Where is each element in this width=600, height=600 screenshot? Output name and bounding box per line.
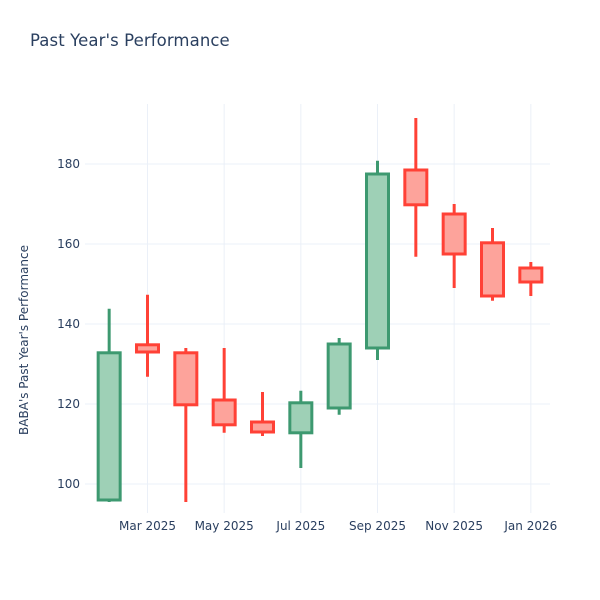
candle-body: [405, 170, 427, 205]
candle-body: [175, 353, 197, 405]
y-tick-label: 160: [57, 237, 80, 251]
x-tick-label: Sep 2025: [349, 519, 406, 533]
candle-body: [328, 344, 350, 408]
candle-body: [98, 353, 120, 500]
candlestick[interactable]: [252, 392, 274, 436]
candlestick[interactable]: [328, 338, 350, 415]
candle-body: [252, 422, 274, 432]
candle-series: [98, 118, 542, 502]
candlestick[interactable]: [405, 118, 427, 257]
candle-body: [520, 268, 542, 282]
candlestick[interactable]: [520, 262, 542, 296]
chart-page: Past Year's Performance 100120140160180 …: [0, 0, 600, 600]
grid-lines: [90, 104, 550, 508]
y-tick-label: 180: [57, 157, 80, 171]
candlestick[interactable]: [213, 348, 235, 433]
candlestick[interactable]: [482, 228, 504, 301]
candle-body: [367, 174, 389, 348]
candlestick[interactable]: [137, 295, 159, 377]
x-tick-label: May 2025: [195, 519, 254, 533]
candle-body: [482, 243, 504, 296]
y-tick-label: 120: [57, 397, 80, 411]
x-tick-label: Jan 2026: [503, 519, 557, 533]
candle-body: [137, 345, 159, 352]
candle-body: [290, 403, 312, 433]
x-axis-ticks: Mar 2025May 2025Jul 2025Sep 2025Nov 2025…: [119, 508, 557, 533]
candlestick-chart: 100120140160180 Mar 2025May 2025Jul 2025…: [0, 0, 600, 600]
y-axis-ticks: 100120140160180: [57, 157, 90, 491]
candlestick[interactable]: [367, 161, 389, 360]
candlestick[interactable]: [175, 348, 197, 502]
x-tick-label: Nov 2025: [425, 519, 483, 533]
candlestick[interactable]: [98, 309, 120, 502]
candlestick[interactable]: [290, 391, 312, 468]
candle-body: [213, 400, 235, 425]
y-tick-label: 100: [57, 477, 80, 491]
candle-body: [443, 214, 465, 254]
candlestick[interactable]: [443, 204, 465, 288]
y-tick-label: 140: [57, 317, 80, 331]
y-axis-title: BABA's Past Year's Performance: [17, 245, 31, 435]
x-tick-label: Jul 2025: [275, 519, 325, 533]
x-tick-label: Mar 2025: [119, 519, 176, 533]
